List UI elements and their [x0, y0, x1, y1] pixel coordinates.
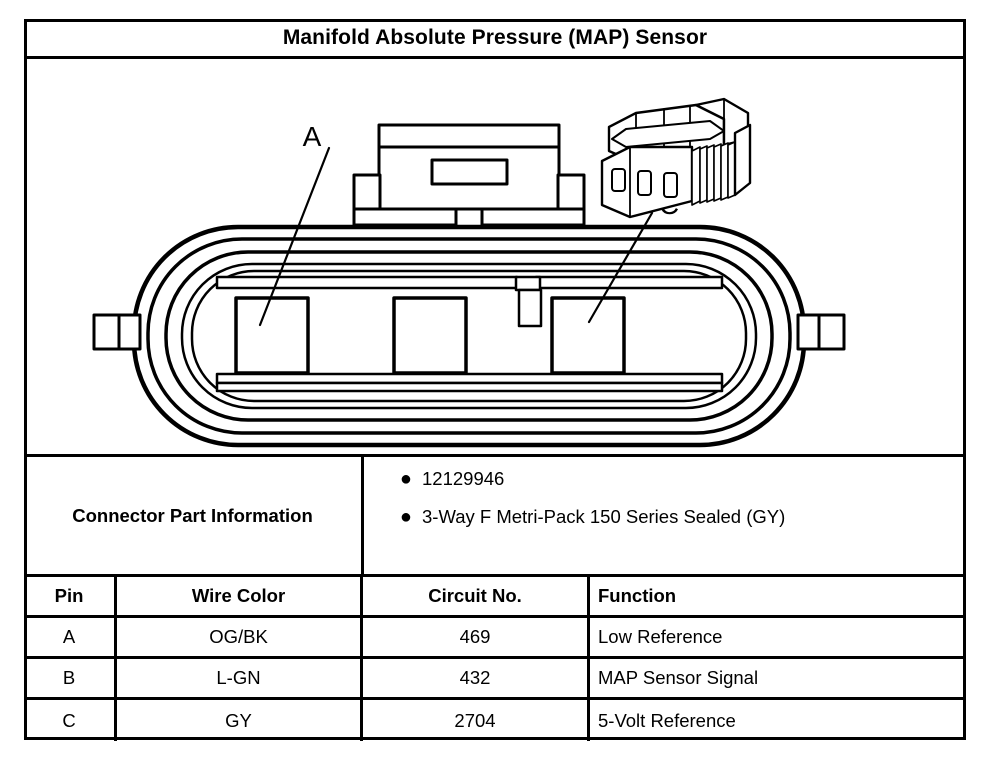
cavity-b: [394, 298, 466, 373]
connector-isometric-view: [602, 99, 750, 217]
cell-pin: C: [24, 700, 117, 741]
pin-table: Pin Wire Color Circuit No. Function A OG…: [24, 577, 966, 740]
table-header-row: Pin Wire Color Circuit No. Function: [24, 577, 966, 618]
wiring-diagram-sheet: Manifold Absolute Pressure (MAP) Sensor: [0, 0, 1008, 770]
cell-wire-color: OG/BK: [117, 618, 363, 656]
table-row: B L-GN 432 MAP Sensor Signal: [24, 659, 966, 700]
connector-part-information-list: ● 12129946 ● 3-Way F Metri-Pack 150 Seri…: [364, 457, 966, 574]
page-title: Manifold Absolute Pressure (MAP) Sensor: [283, 27, 707, 48]
bullet-icon: ●: [364, 469, 422, 490]
connector-part-number: 12129946: [422, 469, 504, 488]
column-header-wire-color: Wire Color: [117, 577, 363, 615]
cell-circuit-no: 432: [363, 659, 590, 697]
table-row: A OG/BK 469 Low Reference: [24, 618, 966, 659]
connector-part-information-label-text: Connector Part Information: [72, 505, 313, 526]
bullet-icon: ●: [364, 507, 422, 528]
cell-function: 5-Volt Reference: [590, 700, 966, 741]
table-row: C GY 2704 5-Volt Reference: [24, 700, 966, 741]
column-header-function: Function: [590, 577, 966, 615]
connector-part-information-row: Connector Part Information ● 12129946 ● …: [24, 457, 966, 577]
connector-part-information-label: Connector Part Information: [24, 457, 364, 574]
cell-pin: A: [24, 618, 117, 656]
connector-latch-housing: [354, 125, 584, 231]
cavity-a: [236, 298, 308, 373]
cell-circuit-no: 2704: [363, 700, 590, 741]
cell-wire-color: L-GN: [117, 659, 363, 697]
connector-illustration-panel: A C: [24, 59, 966, 457]
diagram-title-bar: Manifold Absolute Pressure (MAP) Sensor: [24, 19, 966, 59]
terminal-cavities: [236, 298, 624, 373]
connector-drawing: A C: [24, 59, 966, 454]
cell-wire-color: GY: [117, 700, 363, 741]
callout-label-a: A: [303, 121, 322, 152]
column-header-circuit-no: Circuit No.: [363, 577, 590, 615]
column-header-pin: Pin: [24, 577, 117, 615]
cell-pin: B: [24, 659, 117, 697]
list-item: ● 12129946: [364, 469, 966, 507]
connector-description: 3-Way F Metri-Pack 150 Series Sealed (GY…: [422, 507, 785, 526]
cell-function: Low Reference: [590, 618, 966, 656]
cell-function: MAP Sensor Signal: [590, 659, 966, 697]
cavity-c: [552, 298, 624, 373]
cell-circuit-no: 469: [363, 618, 590, 656]
list-item: ● 3-Way F Metri-Pack 150 Series Sealed (…: [364, 507, 966, 545]
